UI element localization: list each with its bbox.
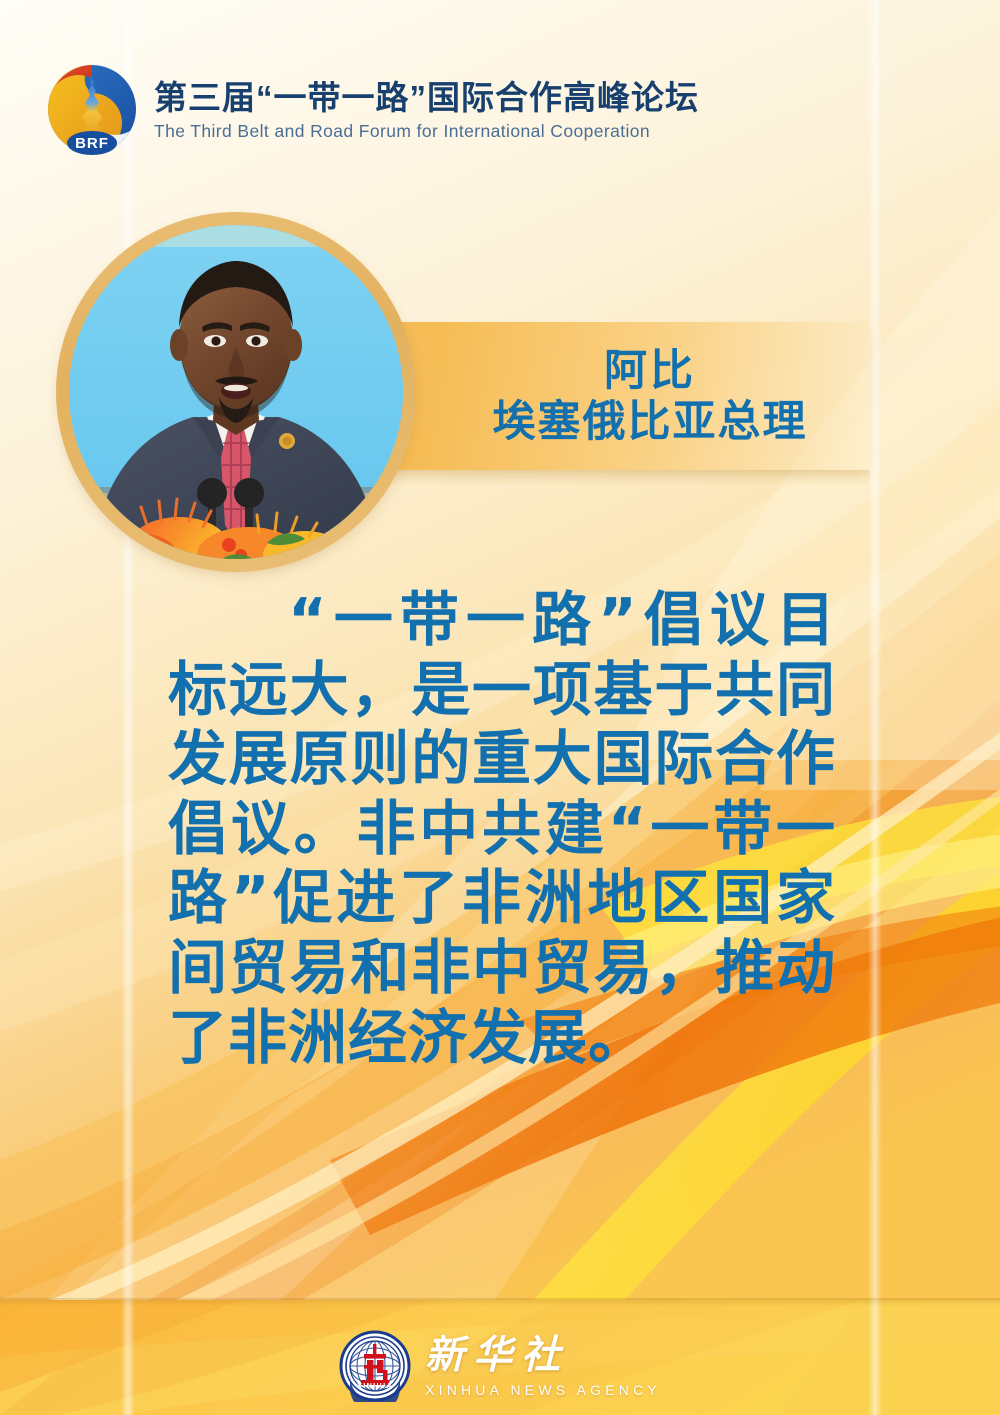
speaker-title: 埃塞俄比亚总理	[493, 400, 808, 445]
speaker-name: 阿比	[604, 349, 696, 394]
portrait-photo	[69, 225, 403, 559]
xinhua-globe-icon: XINHUA	[339, 1330, 411, 1402]
brf-forum-header: BRF 第三届“一带一路”国际合作高峰论坛 The Third Belt and…	[44, 58, 699, 160]
brf-emblem-icon: BRF	[44, 58, 140, 160]
speaker-identity-block: 阿比 埃塞俄比亚总理	[430, 332, 870, 462]
brf-header-text: 第三届“一带一路”国际合作高峰论坛 The Third Belt and Roa…	[154, 76, 699, 142]
speaker-portrait	[56, 212, 416, 572]
forum-title-en: The Third Belt and Road Forum for Intern…	[154, 121, 699, 142]
xinhua-wordmark: 新华社 XINHUA NEWS AGENCY	[425, 1330, 661, 1398]
poster-root: BRF 第三届“一带一路”国际合作高峰论坛 The Third Belt and…	[0, 0, 1000, 1415]
agency-name-cn: 新华社	[425, 1336, 661, 1375]
quote-text: “一带一路”倡议目标远大，是一项基于共同发展原则的重大国际合作倡议。非中共建“一…	[168, 585, 836, 1072]
footer-divider	[0, 1298, 1000, 1306]
svg-text:XINHUA: XINHUA	[357, 1381, 393, 1390]
forum-title-cn: 第三届“一带一路”国际合作高峰论坛	[154, 80, 699, 116]
agency-name-en: XINHUA NEWS AGENCY	[425, 1382, 661, 1398]
xinhua-footer: XINHUA 新华社 XINHUA NEWS AGENCY	[0, 1330, 1000, 1415]
svg-text:BRF: BRF	[75, 135, 109, 152]
